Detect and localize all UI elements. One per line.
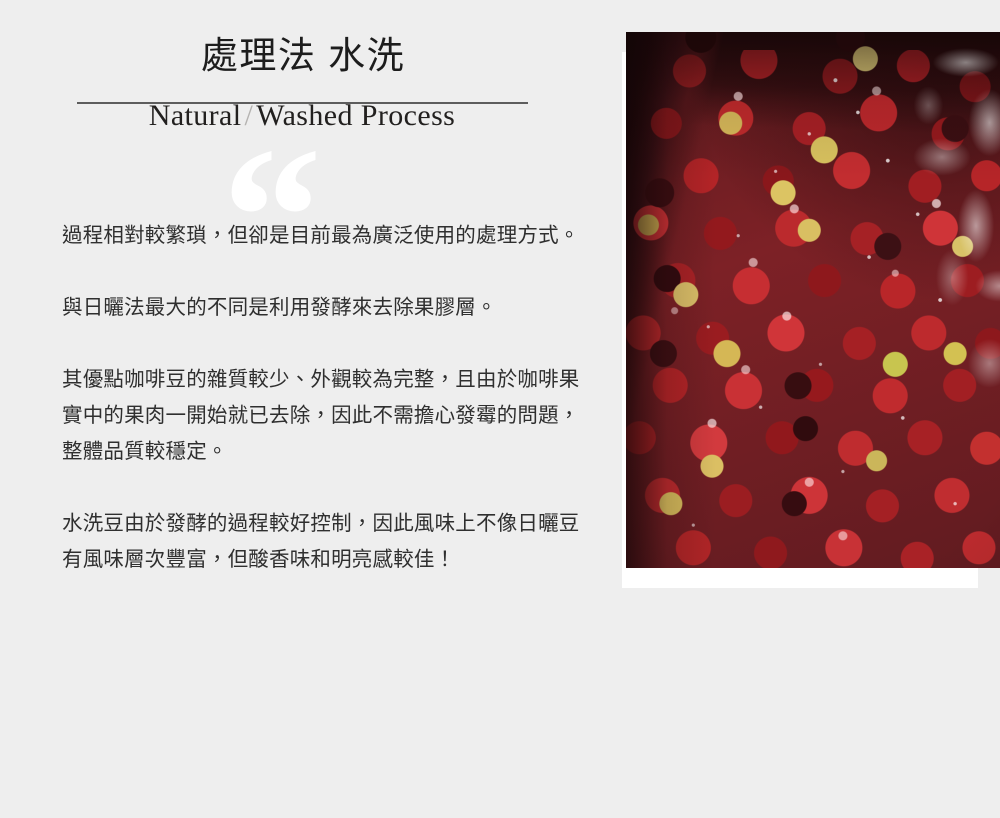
page-title: 處理法 水洗 (62, 30, 542, 82)
paragraph-2: 與日曬法最大的不同是利用發酵來去除果膠層。 (62, 290, 590, 326)
heading-block: 處理法 水洗 Natural/Washed Process (62, 30, 542, 136)
paragraph-1: 過程相對較繁瑣，但卻是目前最為廣泛使用的處理方式。 (62, 218, 590, 254)
cherry-field (626, 32, 1000, 568)
subtitle-part-washed: Washed Process (256, 99, 455, 132)
page-subtitle: Natural/Washed Process (62, 82, 542, 136)
coffee-cherries-photo (626, 32, 1000, 568)
article-page: 處理法 水洗 Natural/Washed Process “ 過程相對較繁瑣，… (0, 0, 1000, 818)
text-column: 處理法 水洗 Natural/Washed Process “ 過程相對較繁瑣，… (0, 0, 604, 818)
subtitle-separator: / (242, 99, 257, 132)
paragraph-4: 水洗豆由於發酵的過程較好控制，因此風味上不像日曬豆有風味層次豐富，但酸香味和明亮… (62, 506, 590, 578)
paragraph-3: 其優點咖啡豆的雜質較少、外觀較為完整，且由於咖啡果實中的果肉一開始就已去除，因此… (62, 362, 590, 470)
cherry-highlights (626, 32, 1000, 568)
body-copy: 過程相對較繁瑣，但卻是目前最為廣泛使用的處理方式。 與日曬法最大的不同是利用發酵… (62, 218, 590, 578)
subtitle-part-natural: Natural (149, 99, 242, 132)
photo-panel (622, 32, 1000, 588)
